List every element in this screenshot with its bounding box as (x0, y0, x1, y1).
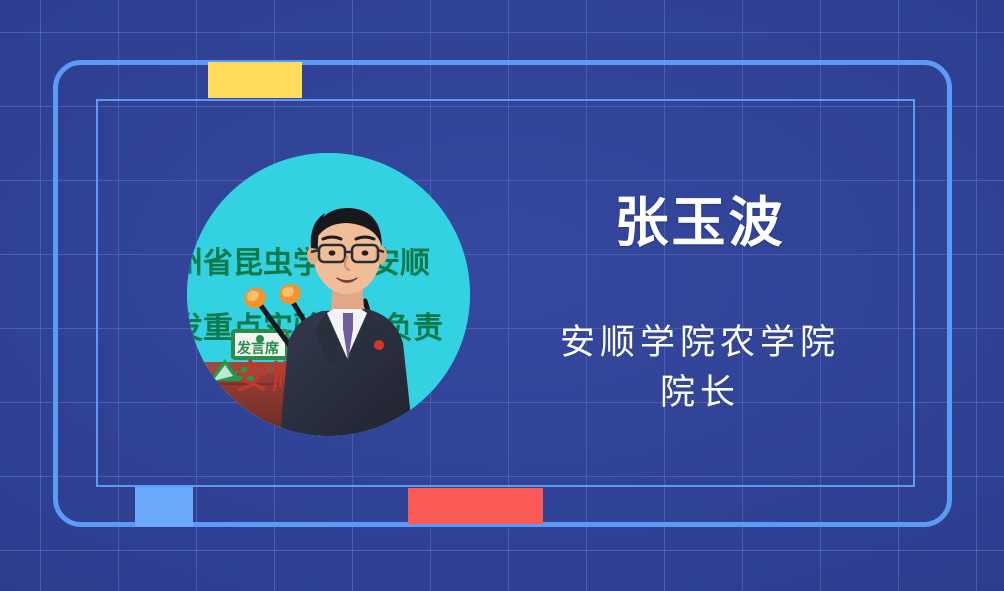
speaker-title: 安顺学院农学院 院长 (500, 318, 900, 417)
speaker-info-block: 张玉波 安顺学院农学院 院长 (500, 170, 900, 418)
speaker-title-line-2: 院长 (500, 368, 900, 418)
portrait-illustration: 州省昆虫学会 安顺 发重点实验 负责 安顺学院 发言席 (187, 153, 470, 436)
accent-block-yellow (208, 62, 302, 98)
speaker-title-line-1: 安顺学院农学院 (500, 318, 900, 368)
accent-block-blue (135, 487, 193, 527)
svg-text:发言席: 发言席 (236, 340, 279, 357)
slide-canvas: 州省昆虫学会 安顺 发重点实验 负责 安顺学院 发言席 (0, 0, 1004, 591)
speaker-portrait-photo: 州省昆虫学会 安顺 发重点实验 负责 安顺学院 发言席 (187, 153, 470, 436)
accent-block-red (408, 488, 543, 524)
speaker-name: 张玉波 (500, 194, 900, 252)
